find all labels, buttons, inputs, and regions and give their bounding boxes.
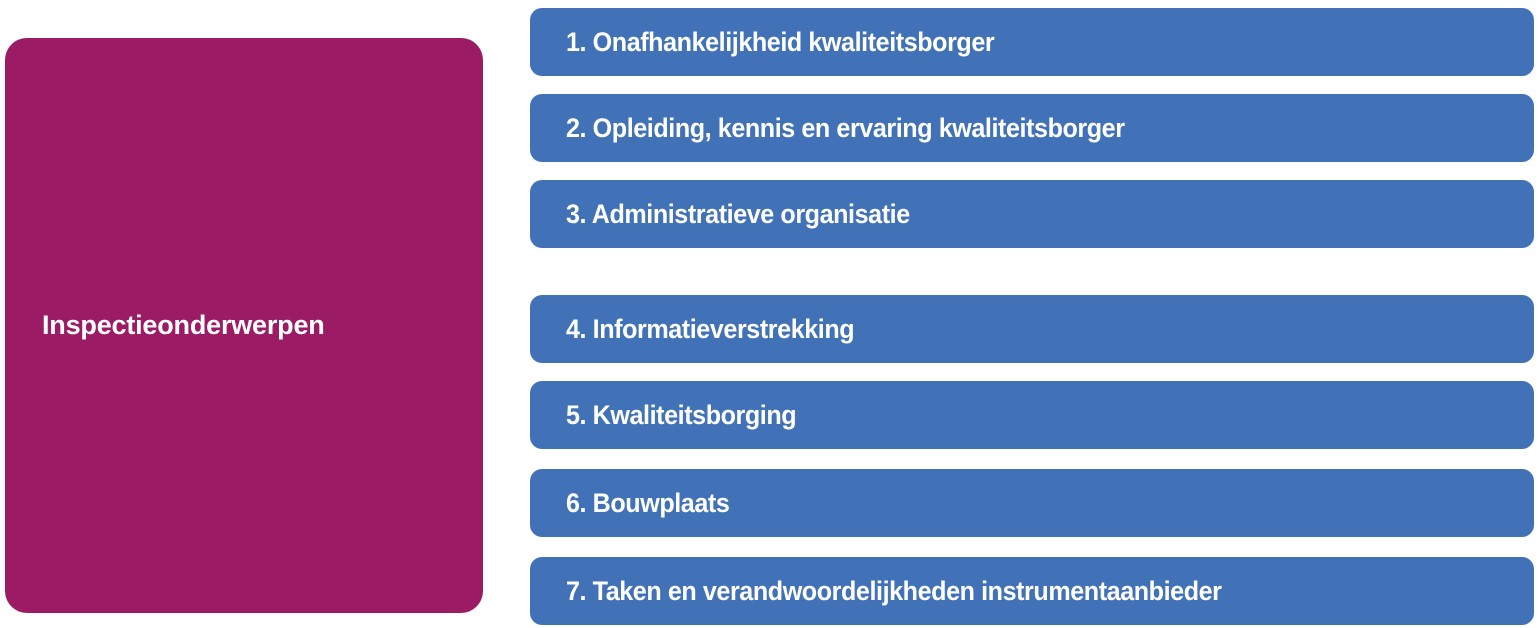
list-item[interactable]: 2. Opleiding, kennis en ervaring kwalite…	[530, 94, 1534, 162]
list-item-label: 3. Administratieve organisatie	[566, 200, 910, 228]
inspection-topics-list: 1. Onafhankelijkheid kwaliteitsborger 2.…	[530, 0, 1534, 628]
list-item[interactable]: 1. Onafhankelijkheid kwaliteitsborger	[530, 8, 1534, 76]
list-item-label: 7. Taken en verandwoordelijkheden instru…	[566, 577, 1222, 605]
list-item-label: 2. Opleiding, kennis en ervaring kwalite…	[566, 114, 1125, 142]
list-item[interactable]: 7. Taken en verandwoordelijkheden instru…	[530, 557, 1534, 625]
list-item[interactable]: 3. Administratieve organisatie	[530, 180, 1534, 248]
list-item-label: 4. Informatieverstrekking	[566, 315, 854, 343]
list-item[interactable]: 6. Bouwplaats	[530, 469, 1534, 537]
list-item[interactable]: 5. Kwaliteitsborging	[530, 381, 1534, 449]
inspection-topics-title-label: Inspectieonderwerpen	[42, 311, 325, 341]
list-item[interactable]: 4. Informatieverstrekking	[530, 295, 1534, 363]
diagram-canvas: Inspectieonderwerpen 1. Onafhankelijkhei…	[0, 0, 1539, 628]
list-item-label: 1. Onafhankelijkheid kwaliteitsborger	[566, 28, 994, 56]
list-item-label: 5. Kwaliteitsborging	[566, 401, 796, 429]
inspection-topics-title-block: Inspectieonderwerpen	[5, 38, 483, 613]
list-item-label: 6. Bouwplaats	[566, 489, 729, 517]
